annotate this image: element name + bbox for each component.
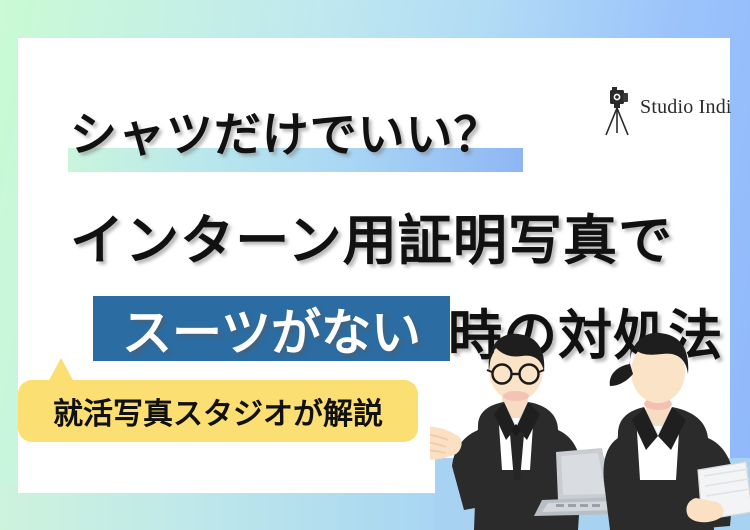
person-woman xyxy=(604,333,750,530)
studio-logo: Studio Indi xyxy=(598,86,728,138)
emphasis-box: スーツがない xyxy=(93,296,450,361)
camera-tripod-icon xyxy=(598,86,638,138)
logo-wordmark: Studio Indi xyxy=(640,96,732,119)
emphasis-box-label: スーツがない xyxy=(93,296,450,361)
subtitle-badge: 就活写真スタジオが解説 xyxy=(18,380,418,442)
thumbnail-canvas: シャツだけでいい？ インターン用証明写真で スーツがない 時の対処法 xyxy=(0,0,750,530)
badge-tail xyxy=(48,358,74,382)
headline-line-2: インターン用証明写真で xyxy=(70,196,673,275)
subtitle-badge-label: 就活写真スタジオが解説 xyxy=(18,380,418,442)
headline-line-1: シャツだけでいい？ xyxy=(70,96,501,165)
people-illustration xyxy=(430,330,750,530)
business-people-svg xyxy=(430,330,750,530)
